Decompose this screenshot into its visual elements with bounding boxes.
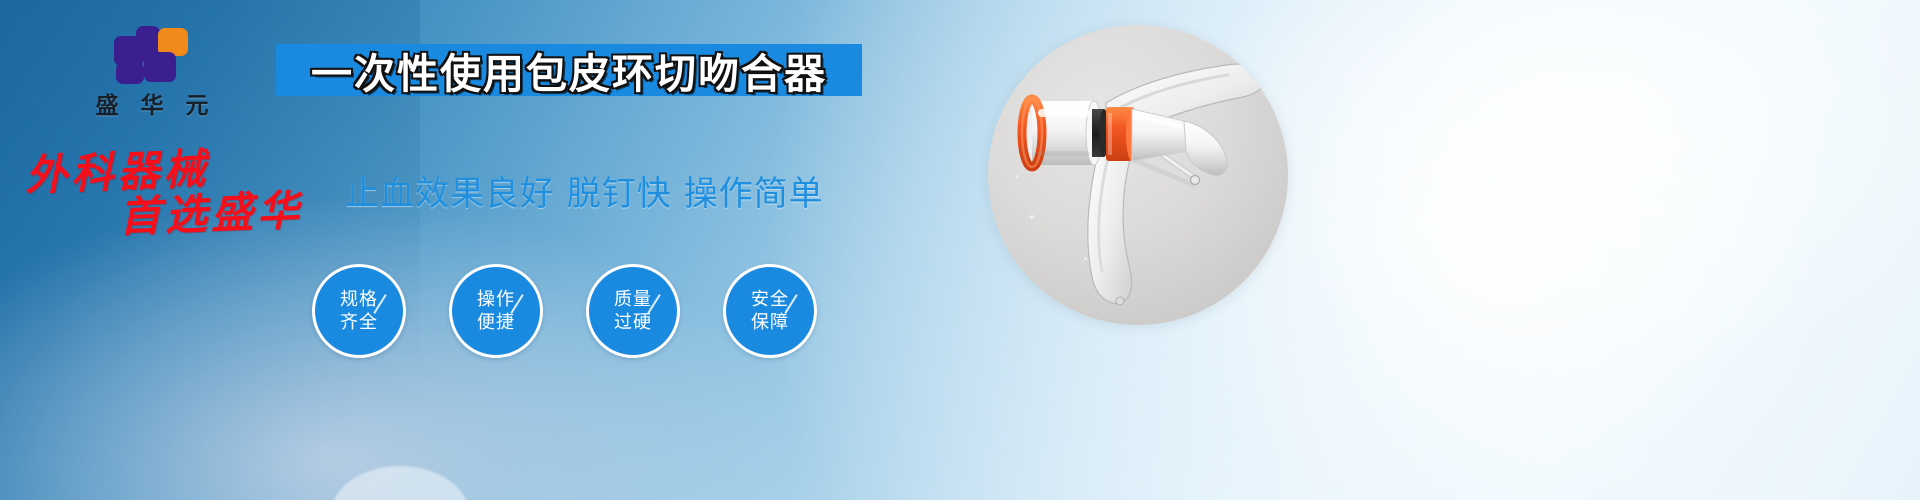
disc-speck — [1016, 175, 1019, 178]
feature-badge-safety[interactable]: 安全 保障 — [723, 264, 817, 358]
feature-badge-specifications[interactable]: 规格 齐全 — [312, 264, 406, 358]
brand-logo[interactable]: 盛 华 元 — [62, 26, 242, 119]
feature-badge-line-1: 规格 — [340, 288, 378, 311]
feature-badge-line-1: 安全 — [751, 288, 789, 311]
disc-speck — [1084, 257, 1087, 260]
feature-badge-operation[interactable]: 操作 便捷 — [449, 264, 543, 358]
feature-badge-line-1: 质量 — [614, 288, 652, 311]
background-arc-decoration — [330, 466, 470, 500]
feature-badge-list: 规格 齐全 操作 便捷 质量 过硬 安全 保障 — [312, 264, 817, 358]
background-glow-top-right — [1220, 0, 1920, 380]
product-photo[interactable] — [988, 25, 1288, 325]
shengyuan-blocks-logo-icon — [114, 26, 190, 88]
product-subtitle: 止血效果良好 脱钉快 操作简单 — [345, 166, 824, 215]
brand-slogan: 外科器械 首选盛华 — [20, 140, 353, 245]
feature-badge-line-2: 保障 — [751, 311, 789, 334]
feature-badge-line-2: 齐全 — [340, 311, 378, 334]
promo-banner: 盛 华 元 外科器械 首选盛华 一次性使用包皮环切吻合器 止血效果良好 脱钉快 … — [0, 0, 1920, 500]
feature-badge-line-1: 操作 — [477, 288, 515, 311]
product-title-bar: 一次性使用包皮环切吻合器 — [276, 44, 862, 96]
product-title: 一次性使用包皮环切吻合器 — [311, 40, 827, 100]
brand-name: 盛 华 元 — [62, 94, 242, 119]
feature-badge-line-2: 便捷 — [477, 311, 515, 334]
feature-badge-quality[interactable]: 质量 过硬 — [586, 264, 680, 358]
feature-badge-line-2: 过硬 — [614, 311, 652, 334]
product-illustration — [988, 25, 1288, 325]
disc-speck — [1030, 215, 1034, 219]
